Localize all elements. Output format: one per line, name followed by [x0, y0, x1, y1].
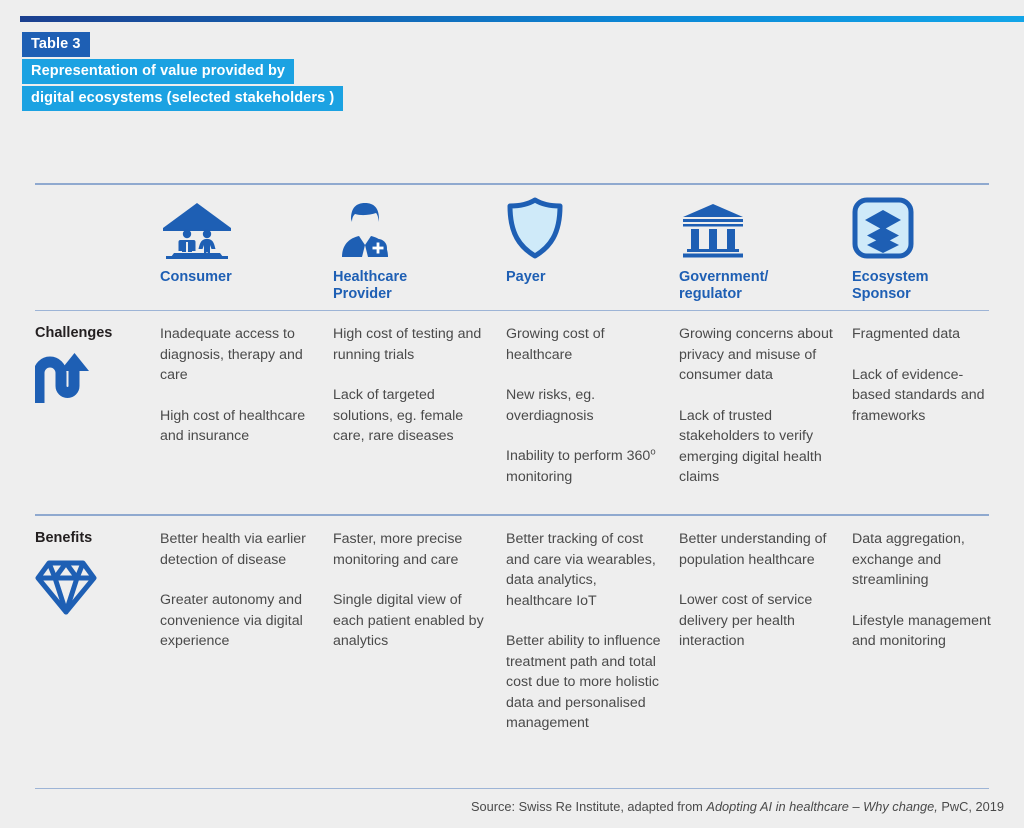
cell-paragraph: Lifestyle management and monitoring: [852, 611, 996, 652]
source-prefix: Source: Swiss Re Institute, adapted from: [471, 799, 706, 814]
cell-challenges-healthcare-provider: High cost of testing and running trials …: [333, 311, 506, 506]
row-label-text: Benefits: [35, 529, 160, 547]
cell-paragraph: Lower cost of service delivery per healt…: [679, 590, 836, 652]
shield-icon: [506, 197, 663, 259]
column-header-label: Healthcare Provider: [333, 269, 490, 303]
cell-paragraph: Greater autonomy and convenience via dig…: [160, 590, 317, 652]
column-header-ecosystem-sponsor: Ecosystem Sponsor: [852, 185, 1012, 310]
source-note: Source: Swiss Re Institute, adapted from…: [0, 799, 1004, 814]
table-bottom-rule: [35, 788, 989, 789]
table-header-row: Consumer Healthcare Provider: [35, 185, 989, 310]
table-row-benefits: Benefits Better health via earlier detec…: [35, 516, 989, 788]
layers-stack-icon: [852, 197, 996, 259]
cell-challenges-payer: Growing cost of healthcare New risks, eg…: [506, 311, 679, 506]
source-suffix: PwC, 2019: [938, 799, 1004, 814]
title-block: Table 3 Representation of value provided…: [22, 32, 343, 113]
cell-paragraph: High cost of testing and running trials: [333, 324, 490, 365]
cell-paragraph: Better ability to influence treatment pa…: [506, 631, 663, 734]
cell-benefits-healthcare-provider: Faster, more precise monitoring and care…: [333, 516, 506, 778]
cell-challenges-government-regulator: Growing concerns about privacy and misus…: [679, 311, 852, 506]
cell-benefits-payer: Better tracking of cost and care via wea…: [506, 516, 679, 778]
value-table: Consumer Healthcare Provider: [35, 183, 989, 789]
winding-arrow-up-icon: [35, 352, 160, 409]
cell-benefits-ecosystem-sponsor: Data aggregation, exchange and streamlin…: [852, 516, 1012, 778]
table-heading-line-2: digital ecosystems (selected stakeholder…: [22, 86, 343, 111]
cell-paragraph: New risks, eg. overdiagnosis: [506, 385, 663, 426]
cell-paragraph: Better health via earlier detection of d…: [160, 529, 317, 570]
source-title-italic: Adopting AI in healthcare – Why change,: [706, 799, 937, 814]
cell-challenges-ecosystem-sponsor: Fragmented data Lack of evidence-based s…: [852, 311, 1012, 506]
government-building-icon: [679, 197, 836, 259]
column-header-label: Ecosystem Sponsor: [852, 269, 996, 303]
top-gradient-rule: [20, 16, 1024, 22]
cell-paragraph: Inadequate access to diagnosis, therapy …: [160, 324, 317, 386]
cell-benefits-consumer: Better health via earlier detection of d…: [160, 516, 333, 778]
cell-paragraph: Lack of trusted stakeholders to verify e…: [679, 406, 836, 488]
cell-paragraph: Growing cost of healthcare: [506, 324, 663, 365]
table-heading-line-1: Representation of value provided by: [22, 59, 294, 84]
cell-paragraph: Lack of targeted solutions, eg. female c…: [333, 385, 490, 447]
family-under-roof-icon: [160, 197, 317, 259]
cell-paragraph: Data aggregation, exchange and streamlin…: [852, 529, 996, 591]
cell-paragraph: Fragmented data: [852, 324, 996, 345]
cell-paragraph: Faster, more precise monitoring and care: [333, 529, 490, 570]
cell-paragraph: Inability to perform 360o monitoring: [506, 446, 663, 487]
table-row-challenges: Challenges Inadequate access to diagnosi…: [35, 311, 989, 514]
diamond-icon: [35, 557, 160, 620]
column-header-government-regulator: Government/ regulator: [679, 185, 852, 310]
cell-paragraph: Better understanding of population healt…: [679, 529, 836, 570]
cell-paragraph: Better tracking of cost and care via wea…: [506, 529, 663, 611]
cell-paragraph: Lack of evidence-based standards and fra…: [852, 365, 996, 427]
column-header-label: Payer: [506, 269, 663, 286]
doctor-icon: [333, 197, 490, 259]
cell-paragraph: High cost of healthcare and insurance: [160, 406, 317, 447]
table-figure-page: Table 3 Representation of value provided…: [0, 0, 1024, 828]
cell-paragraph: Single digital view of each patient enab…: [333, 590, 490, 652]
column-header-consumer: Consumer: [160, 185, 333, 310]
column-header-label: Consumer: [160, 269, 317, 286]
table-number-badge: Table 3: [22, 32, 90, 57]
cell-paragraph: Growing concerns about privacy and misus…: [679, 324, 836, 386]
cell-benefits-government-regulator: Better understanding of population healt…: [679, 516, 852, 778]
column-header-label: Government/ regulator: [679, 269, 836, 303]
column-header-payer: Payer: [506, 185, 679, 310]
row-label-benefits: Benefits: [35, 516, 160, 778]
row-label-challenges: Challenges: [35, 311, 160, 506]
row-label-text: Challenges: [35, 324, 160, 342]
cell-challenges-consumer: Inadequate access to diagnosis, therapy …: [160, 311, 333, 506]
column-header-healthcare-provider: Healthcare Provider: [333, 185, 506, 310]
header-corner-cell: [35, 185, 160, 310]
